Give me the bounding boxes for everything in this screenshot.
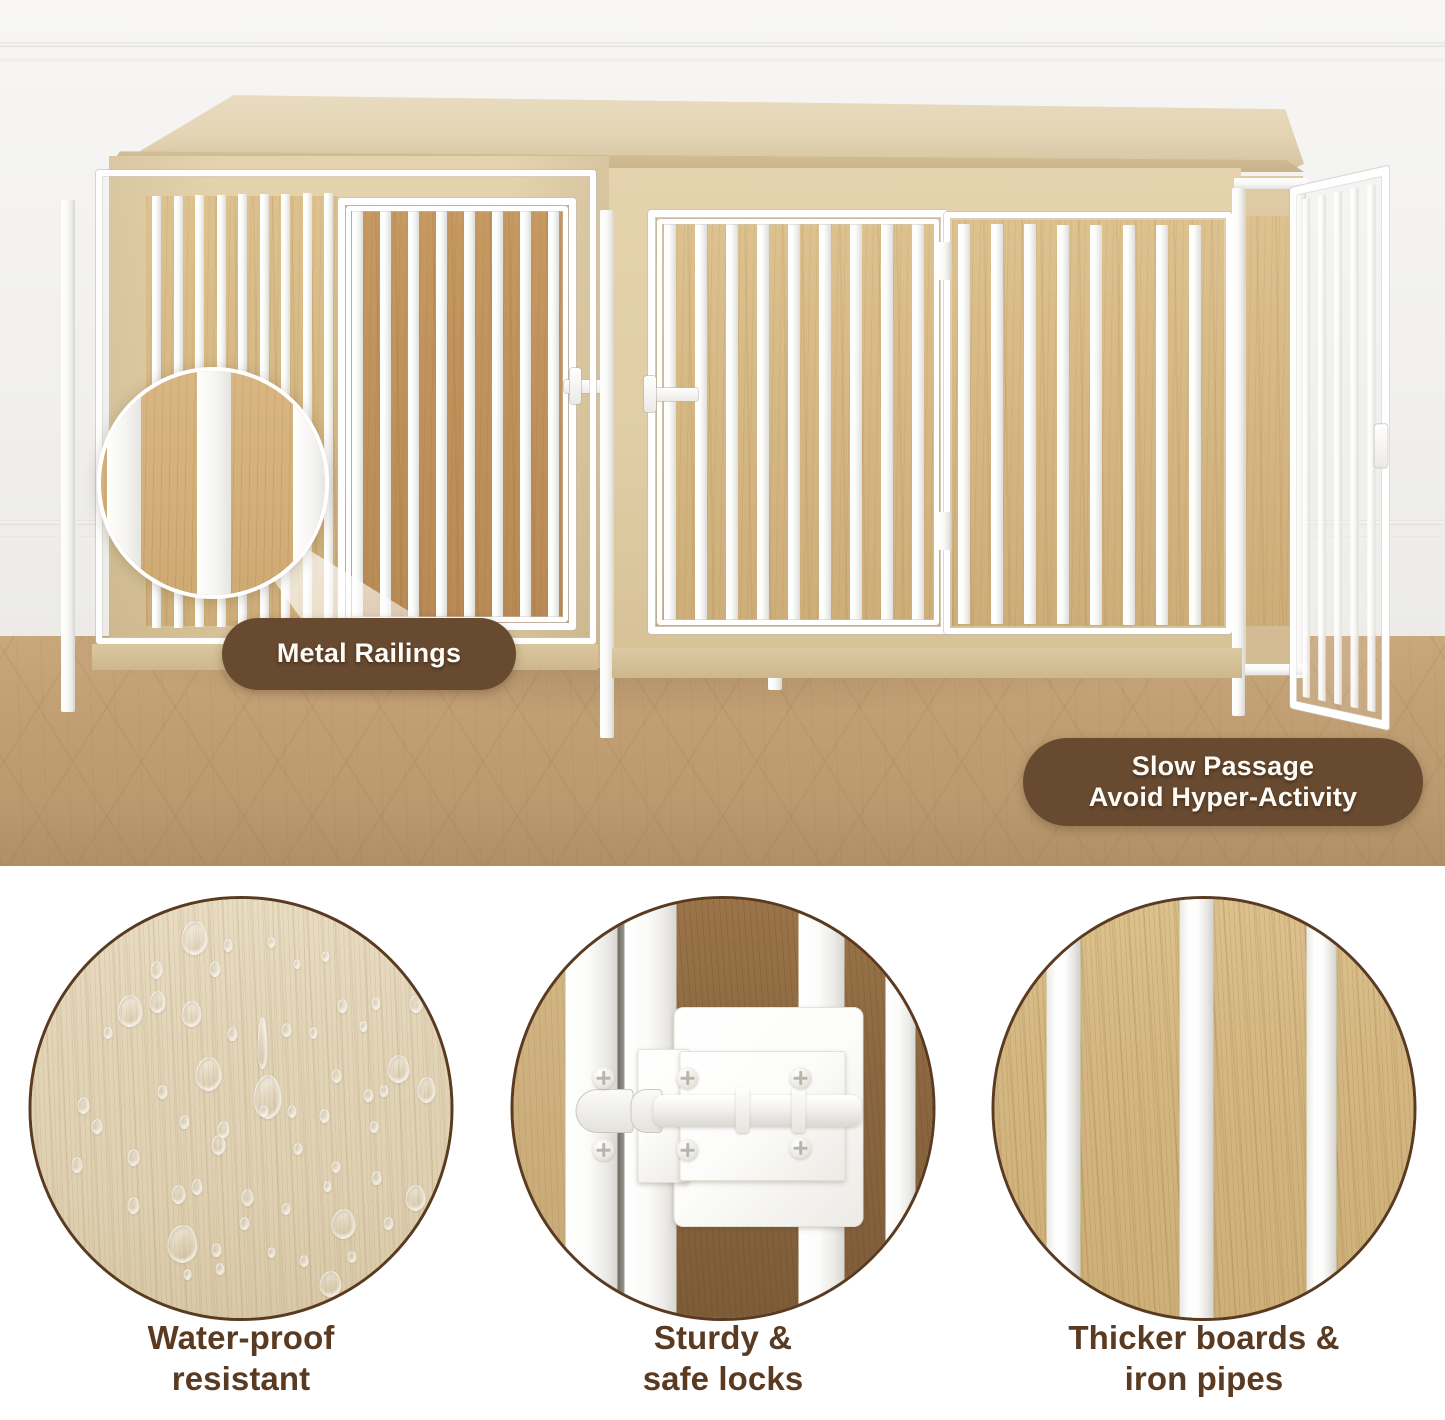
iron-pipe — [1307, 896, 1337, 1321]
iron-pipes-over-board-icon — [995, 899, 1414, 1318]
water-droplet — [410, 995, 423, 1013]
water-droplet — [172, 1185, 186, 1204]
water-droplet — [216, 1263, 225, 1275]
feature-strip: Water-proof resistant — [0, 866, 1445, 1420]
crate-foot-center — [596, 732, 618, 750]
magnifier-bar — [197, 367, 231, 599]
iron-pipe — [1180, 896, 1214, 1321]
water-droplet — [288, 1105, 297, 1118]
water-droplet — [384, 1217, 394, 1230]
water-droplet — [360, 1021, 368, 1032]
infographic-page: Metal Railings Slow Passage Avoid Hyper-… — [0, 0, 1445, 1420]
water-droplet — [150, 991, 166, 1013]
water-droplet — [182, 921, 208, 955]
water-droplet — [196, 1057, 222, 1091]
callout-metal-railings: Metal Railings — [222, 618, 516, 690]
water-droplet — [268, 937, 276, 948]
water-droplet — [332, 1069, 342, 1083]
water-droplet — [242, 1189, 254, 1206]
screw-icon — [677, 1067, 699, 1089]
wall-panel-seam — [1392, 58, 1396, 520]
right-door-latch[interactable] — [652, 388, 698, 401]
water-droplet — [151, 961, 163, 979]
water-droplet — [192, 1179, 203, 1195]
open-swing-door[interactable] — [1290, 166, 1389, 731]
open-door-railing-bar — [1303, 198, 1310, 699]
open-door-railing-bar — [1318, 194, 1325, 701]
water-droplet — [78, 1097, 90, 1114]
water-droplet — [224, 939, 233, 952]
water-droplet — [338, 999, 348, 1013]
water-proof-caption-line-2: resistant — [0, 1359, 482, 1400]
right-hinge-upper — [938, 242, 951, 280]
light-wood-surface — [32, 899, 451, 1318]
feature-water-proof: Water-proof resistant — [0, 866, 482, 1420]
end-compartment-interior — [1244, 216, 1296, 626]
feature-thicker-boards: Thicker boards & iron pipes — [963, 866, 1445, 1420]
right-door-latch-plate[interactable] — [644, 376, 656, 412]
right-hinge-lower — [938, 512, 951, 550]
water-droplet — [300, 1255, 309, 1267]
water-droplet — [184, 1269, 192, 1280]
water-droplet — [348, 1251, 357, 1263]
slide-bolt-knob-2[interactable] — [792, 1087, 806, 1133]
crate-foot-front-left — [57, 706, 79, 724]
screw-icon — [790, 1067, 812, 1089]
screw-icon — [593, 1139, 615, 1161]
right-bay-plinth — [612, 648, 1242, 678]
water-droplet — [322, 951, 330, 962]
water-droplet — [240, 1217, 250, 1230]
water-droplet — [332, 1209, 356, 1239]
water-droplet — [118, 995, 143, 1027]
water-droplet — [158, 1085, 168, 1099]
latch-staple — [576, 1089, 634, 1133]
water-droplet — [282, 1203, 291, 1215]
water-droplet — [92, 1119, 103, 1134]
safe-locks-caption-line-1: Sturdy & — [482, 1318, 964, 1359]
callout-slow-passage-line-1: Slow Passage — [1089, 751, 1358, 782]
thicker-boards-caption-line-2: iron pipes — [963, 1359, 1445, 1400]
safe-locks-caption-line-2: safe locks — [482, 1359, 964, 1400]
water-proof-caption-line-1: Water-proof — [0, 1318, 482, 1359]
water-droplet — [320, 1109, 330, 1123]
water-droplet — [418, 1077, 436, 1103]
thicker-boards-caption-line-1: Thicker boards & — [963, 1318, 1445, 1359]
feature-safe-locks: Sturdy & safe locks — [482, 866, 964, 1420]
water-droplet — [294, 1143, 303, 1155]
callout-slow-passage: Slow Passage Avoid Hyper-Activity — [1023, 738, 1423, 826]
thicker-boards-caption: Thicker boards & iron pipes — [963, 1318, 1445, 1399]
safe-locks-circle — [511, 896, 936, 1321]
water-droplet — [268, 1247, 276, 1258]
water-proof-circle — [29, 896, 454, 1321]
water-droplet — [370, 1121, 379, 1133]
right-door-inner-frame[interactable] — [657, 219, 939, 625]
water-droplet — [212, 1243, 222, 1257]
water-droplet — [282, 1023, 292, 1037]
open-door-railing-bar — [1334, 191, 1342, 705]
screw-icon — [593, 1067, 615, 1089]
hero-product-scene: Metal Railings Slow Passage Avoid Hyper-… — [0, 0, 1445, 866]
water-droplet — [210, 961, 221, 977]
water-droplet — [320, 1271, 342, 1297]
crate-leg-front-left — [61, 200, 75, 712]
slide-bolt-rod[interactable] — [654, 1095, 862, 1127]
water-droplet — [406, 1185, 426, 1211]
light-wood-edge — [514, 899, 572, 1318]
water-droplet — [388, 1055, 410, 1083]
water-droplet — [294, 959, 301, 969]
slide-bolt-knob[interactable] — [736, 1087, 750, 1133]
water-droplet — [228, 1027, 238, 1041]
thicker-boards-circle — [992, 896, 1417, 1321]
water-droplet — [380, 1085, 389, 1097]
callout-metal-railings-line-1: Metal Railings — [277, 638, 461, 669]
magnifier-bar — [107, 367, 141, 599]
water-droplet — [332, 1161, 341, 1173]
water-droplet — [168, 1225, 198, 1263]
slide-bolt-latch-icon — [514, 899, 933, 1318]
water-droplet — [310, 1027, 318, 1039]
safe-locks-caption: Sturdy & safe locks — [482, 1318, 964, 1399]
water-droplet — [324, 1181, 332, 1192]
screw-icon — [677, 1139, 699, 1161]
iron-pipe — [1047, 896, 1081, 1321]
water-droplet — [372, 997, 381, 1010]
water-droplet — [104, 1027, 113, 1039]
water-droplet — [180, 1115, 190, 1129]
wall-molding-top — [0, 42, 1445, 47]
wall-panel-seam — [38, 58, 42, 520]
railing-bar-far-right — [886, 896, 916, 1321]
magnifier-bar — [293, 367, 327, 599]
water-droplet — [364, 1089, 374, 1102]
water-droplet — [72, 1157, 83, 1173]
water-droplet — [260, 1105, 269, 1117]
metal-railing-magnifier — [97, 367, 329, 599]
water-droplet — [182, 1001, 202, 1027]
right-railing-outer-frame — [944, 212, 1232, 634]
open-door-railing-bar — [1351, 187, 1359, 708]
crate-leg-right — [1232, 188, 1245, 716]
wall-molding-top-thin — [0, 58, 1445, 61]
crate-foot-right — [1228, 710, 1250, 728]
screw-icon — [790, 1137, 812, 1159]
open-door-latch[interactable] — [1375, 424, 1388, 467]
water-droplet — [212, 1135, 226, 1155]
water-droplet — [372, 1171, 382, 1185]
water-droplet — [128, 1149, 140, 1166]
callout-slow-passage-line-2: Avoid Hyper-Activity — [1089, 782, 1358, 813]
water-droplet — [128, 1197, 140, 1214]
water-proof-caption: Water-proof resistant — [0, 1318, 482, 1399]
